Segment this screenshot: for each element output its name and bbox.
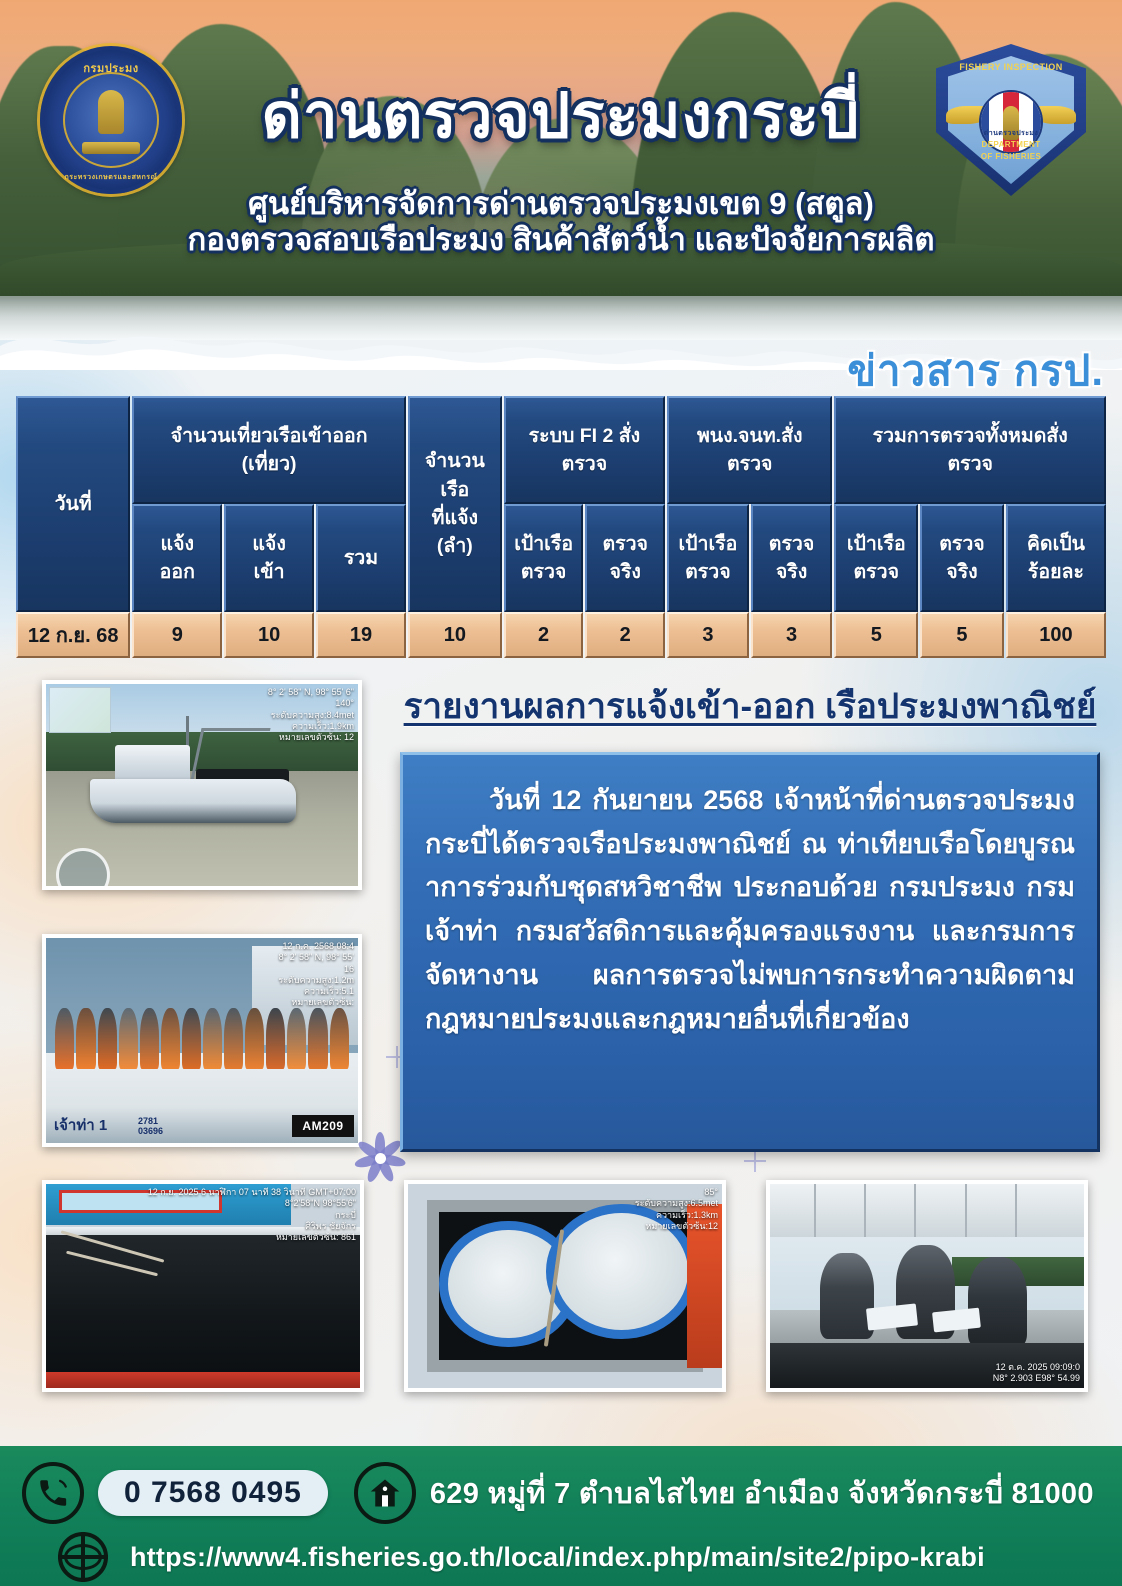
cell-depart: 9 <box>132 612 222 658</box>
sub-header-officer-target: เป้าเรือ ตรวจ <box>667 504 749 612</box>
fi2-sub-label: ตรวจ <box>562 453 608 475</box>
col-header-trips: จำนวนเที่ยวเรือเข้าออก (เที่ยว) <box>132 396 406 504</box>
col-header-officer: พนง.จนท.สั่ง ตรวจ <box>667 396 832 504</box>
phone-icon <box>22 1462 84 1524</box>
photo-gps-overlay: 12 ก.ค. 2568 08:4 8° 2' 58" N, 98° 55' 1… <box>278 941 354 1009</box>
page-title: ด่านตรวจประมงกระบี่ <box>0 86 1122 148</box>
cell-trips-total: 19 <box>316 612 406 658</box>
statistics-table-wrapper: วันที่ จำนวนเที่ยวเรือเข้าออก (เที่ยว) จ… <box>14 396 1108 658</box>
report-box: วันที่ 12 กันยายน 2568 เจ้าหน้าที่ด่านตร… <box>400 752 1100 1152</box>
vessel-plate-text: AM209 <box>292 1115 354 1137</box>
cell-officer-actual: 3 <box>751 612 833 658</box>
cell-percent: 100 <box>1006 612 1106 658</box>
table-row: 12 ก.ย. 68 9 10 19 10 2 2 3 3 5 5 100 <box>16 612 1106 658</box>
officer-sub-label: ตรวจ <box>727 453 773 475</box>
trips-unit-label: (เที่ยว) <box>242 453 297 475</box>
decorative-sparkle-icon <box>744 1150 766 1172</box>
cell-total-target: 5 <box>834 612 918 658</box>
photo-gps-overlay: 12 ก.ย. 2025 6 นาฬิกา 07 นาที 38 วินาที … <box>148 1187 356 1243</box>
photo-commercial-fishing-vessel: 8° 2' 58" N, 98° 55' 6" 140° ระดับความสู… <box>42 680 362 890</box>
news-tag-label: ข่าวสาร กรป. <box>847 338 1104 404</box>
sub-header-total-actual: ตรวจ จริง <box>920 504 1004 612</box>
col-header-date: วันที่ <box>16 396 130 612</box>
col-header-fi2: ระบบ FI 2 สั่ง ตรวจ <box>504 396 665 504</box>
col-header-vessels: จำนวน เรือ ที่แจ้ง (ลำ) <box>408 396 502 612</box>
crew-members <box>55 1008 348 1070</box>
gps-map-thumbnail <box>49 687 111 733</box>
decorative-sparkle-icon <box>386 1046 400 1060</box>
cell-officer-target: 3 <box>667 612 749 658</box>
page-subtitle-1: ศูนย์บริหารจัดการด่านตรวจประมงเขต 9 (สตู… <box>0 186 1122 222</box>
footer-website-row: https://www4.fisheries.go.th/local/index… <box>58 1532 985 1582</box>
cell-date: 12 ก.ย. 68 <box>16 612 130 658</box>
sub-header-percent: คิดเป็น ร้อยละ <box>1006 504 1106 612</box>
report-title: รายงานผลการแจ้งเข้า-ออก เรือประมงพาณิชย์ <box>398 686 1102 728</box>
sub-header-trips-total: รวม <box>316 504 406 612</box>
report-body-text: วันที่ 12 กันยายน 2568 เจ้าหน้าที่ด่านตร… <box>425 779 1075 1041</box>
footer-bar: 0 7568 0495 629 หมู่ที่ 7 ตำบลไสไทย อำเม… <box>0 1446 1122 1586</box>
photo-fishing-net-inspection: 12 ก.ย. 2025 6 นาฬิกา 07 นาที 38 วินาที … <box>42 1180 364 1392</box>
cell-total-actual: 5 <box>920 612 1004 658</box>
photo-crew-lineup-on-deck: เจ้าท่า 1 2781 03696 AM209 12 ก.ค. 2568 … <box>42 934 362 1147</box>
cell-arrive: 10 <box>224 612 314 658</box>
officer-figure <box>820 1253 873 1339</box>
sub-header-fi2-actual: ตรวจ จริง <box>585 504 665 612</box>
badge-top-text: FISHERY INSPECTION <box>936 62 1086 72</box>
officer-label: พนง.จนท.สั่ง <box>697 425 803 447</box>
globe-icon <box>58 1532 108 1582</box>
home-icon <box>354 1462 416 1524</box>
sub-header-arrive: แจ้ง เข้า <box>224 504 314 612</box>
footer-contact-row: 0 7568 0495 629 หมู่ที่ 7 ตำบลไสไทย อำเม… <box>22 1462 1094 1524</box>
cell-fi2-target: 2 <box>504 612 584 658</box>
statistics-table: วันที่ จำนวนเที่ยวเรือเข้าออก (เที่ยว) จ… <box>14 396 1108 658</box>
badge-bottom-right-text: OF FISHERIES <box>936 152 1086 161</box>
hull-name-text: เจ้าท่า 1 <box>54 1113 107 1137</box>
sub-header-total-target: เป้าเรือ ตรวจ <box>834 504 918 612</box>
page-subtitle-2: กองตรวจสอบเรือประมง สินค้าสัตว์น้ำ และปั… <box>0 222 1122 258</box>
office-address: 629 หมู่ที่ 7 ตำบลไสไทย อำเมือง จังหวัดก… <box>430 1470 1094 1516</box>
fi2-label: ระบบ FI 2 สั่ง <box>529 425 641 447</box>
phone-number[interactable]: 0 7568 0495 <box>98 1470 328 1516</box>
photo-gps-overlay: 12 ต.ค. 2025 09:09:0 N8° 2.903 E98° 54.9… <box>993 1362 1080 1385</box>
cell-fi2-actual: 2 <box>585 612 665 658</box>
officer-figure <box>968 1257 1028 1347</box>
col-header-total: รวมการตรวจทั้งหมดสั่ง ตรวจ <box>834 396 1106 504</box>
vessels-label: จำนวน เรือ ที่แจ้ง (ลำ) <box>425 450 485 557</box>
photo-officers-document-check: 12 ต.ค. 2025 09:09:0 N8° 2.903 E98° 54.9… <box>766 1180 1088 1392</box>
website-url[interactable]: https://www4.fisheries.go.th/local/index… <box>130 1542 985 1573</box>
photo-fish-hold-ice-tubs: 85° ระดับความสูง:6.5met ความเร็ว:1.3km ห… <box>404 1180 726 1392</box>
photo-gps-overlay: 85° ระดับความสูง:6.5met ความเร็ว:1.3km ห… <box>635 1187 718 1232</box>
sub-header-fi2-target: เป้าเรือ ตรวจ <box>504 504 584 612</box>
cell-vessels: 10 <box>408 612 502 658</box>
sub-header-officer-actual: ตรวจ จริง <box>751 504 833 612</box>
sub-header-depart: แจ้ง ออก <box>132 504 222 612</box>
photo-gps-overlay: 8° 2' 58" N, 98° 55' 6" 140° ระดับความสู… <box>268 687 354 743</box>
seal-bottom-text: กระทรวงเกษตรและสหกรณ์ <box>44 172 178 183</box>
total-label: รวมการตรวจทั้งหมดสั่ง <box>873 425 1068 447</box>
infographic-page: กรมประมง กระทรวงเกษตรและสหกรณ์ FISHERY I… <box>0 0 1122 1586</box>
hull-number-text: 2781 03696 <box>138 1117 163 1136</box>
trips-label: จำนวนเที่ยวเรือเข้าออก <box>171 425 368 447</box>
total-sub-label: ตรวจ <box>947 453 993 475</box>
